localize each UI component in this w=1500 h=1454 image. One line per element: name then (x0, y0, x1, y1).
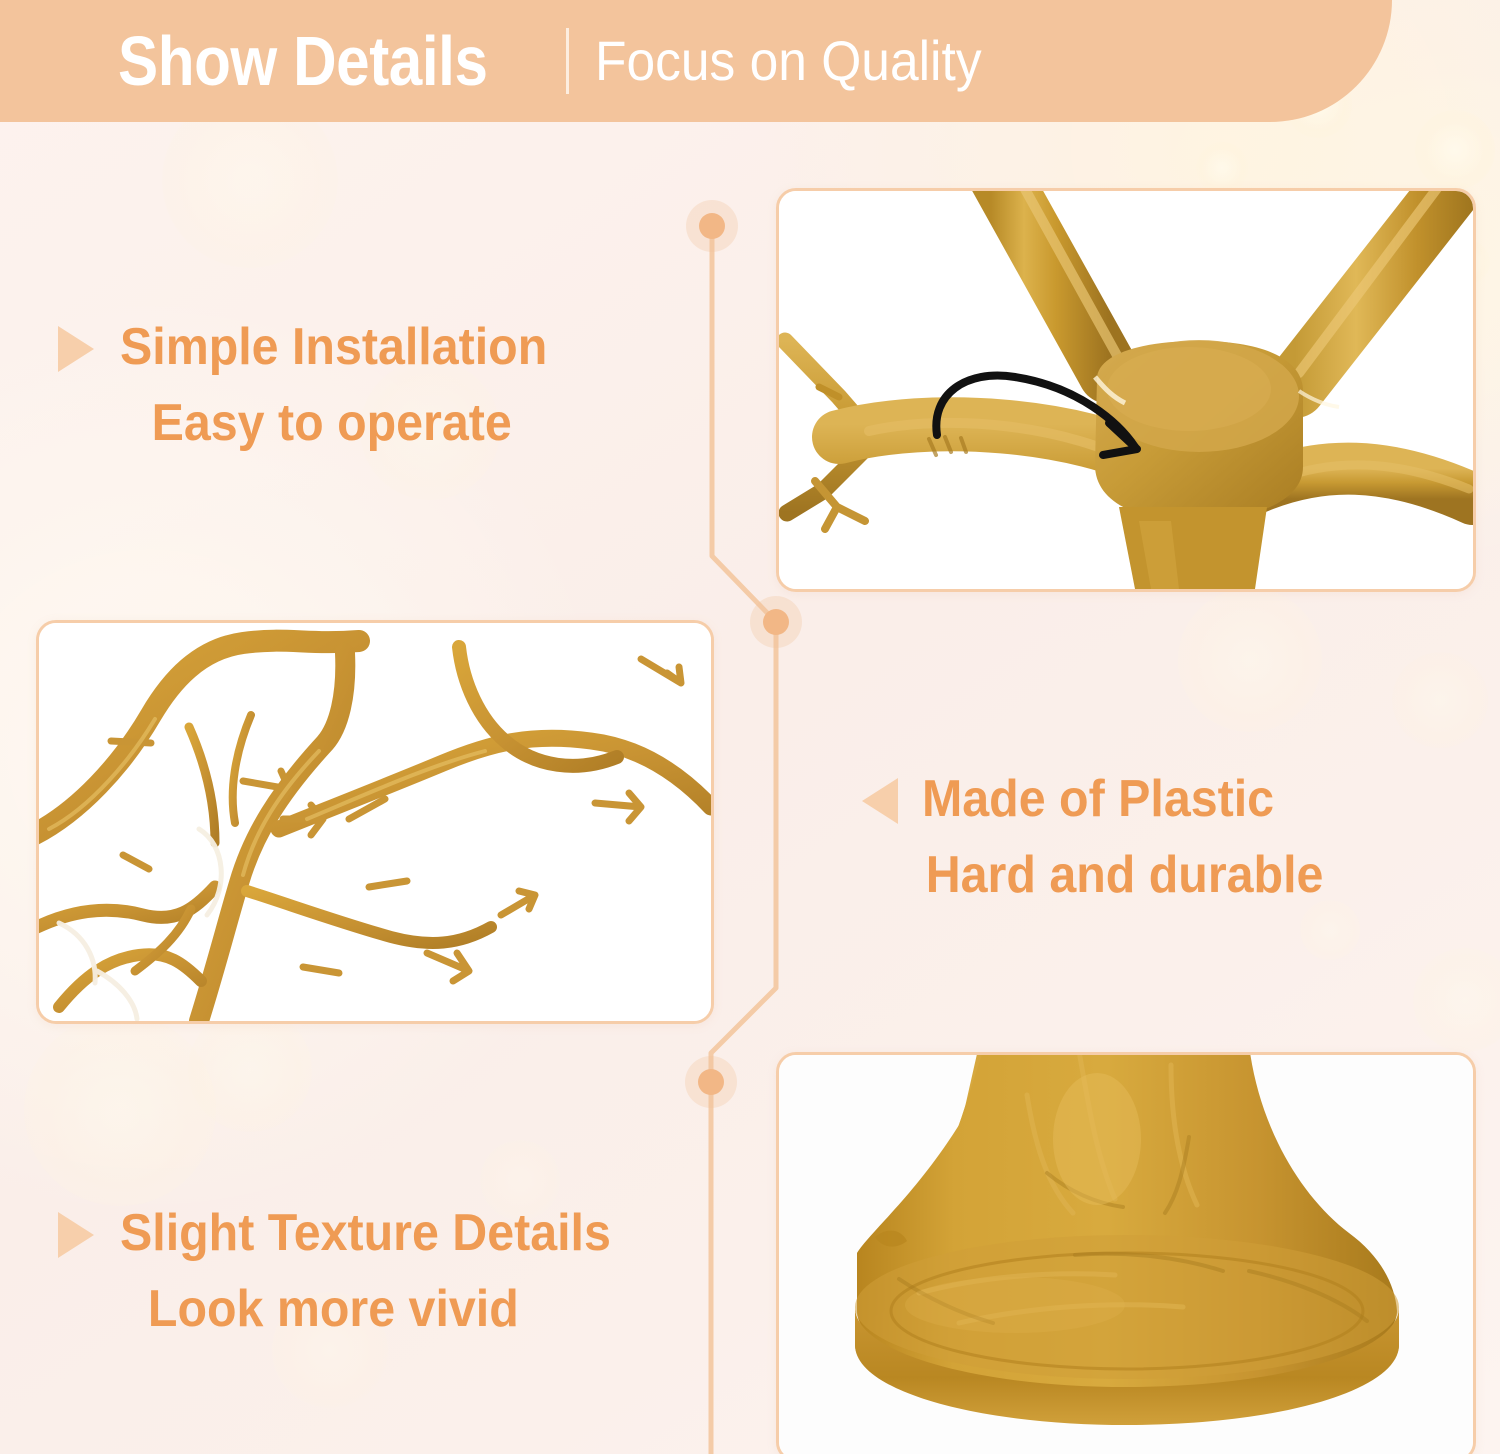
bokeh-circle (1415, 110, 1495, 190)
connector-node-3 (685, 1056, 737, 1108)
feature-line-1: Slight Texture Details (120, 1204, 611, 1262)
feature-made-of-plastic: Made of Plastic Hard and durable (862, 762, 1354, 914)
connector-node-1 (686, 200, 738, 252)
bokeh-circle (188, 1008, 312, 1132)
bokeh-circle (1413, 948, 1500, 1052)
photo-panel-branch-closeup (36, 620, 714, 1024)
feature-simple-installation: Simple Installation Easy to operate (58, 310, 579, 462)
photo-panel-joint-closeup (776, 188, 1476, 592)
feature-line-2: Easy to operate (152, 386, 548, 462)
feature-text-block: Made of Plastic Hard and durable (922, 762, 1323, 914)
base-stand-illustration (779, 1055, 1473, 1454)
feature-slight-texture-details: Slight Texture Details Look more vivid (58, 1196, 648, 1348)
header-divider (566, 28, 569, 94)
header-banner: Show Details Focus on Quality (0, 0, 1392, 122)
branch-texture-illustration (39, 623, 711, 1021)
feature-line-1: Made of Plastic (922, 770, 1274, 828)
header-subtitle: Focus on Quality (595, 33, 982, 89)
triangle-right-icon (58, 326, 94, 372)
bokeh-circle (24, 1014, 216, 1206)
triangle-right-icon (58, 1212, 94, 1258)
feature-text-block: Slight Texture Details Look more vivid (120, 1196, 611, 1348)
connector-line (711, 228, 776, 1454)
infographic-page: Show Details Focus on Quality (0, 0, 1500, 1454)
connector-node-2 (750, 596, 802, 648)
bokeh-circle (1196, 142, 1248, 194)
bokeh-circle (1178, 588, 1322, 732)
feature-line-1: Simple Installation (120, 318, 547, 376)
feature-text-block: Simple Installation Easy to operate (120, 310, 547, 462)
joint-closeup-illustration (779, 191, 1473, 589)
feature-line-2: Look more vivid (148, 1272, 611, 1348)
feature-line-2: Hard and durable (926, 838, 1324, 914)
page-title: Show Details (118, 26, 488, 96)
triangle-left-icon (862, 778, 898, 824)
photo-panel-base-closeup (776, 1052, 1476, 1454)
bokeh-circle (1392, 652, 1488, 748)
